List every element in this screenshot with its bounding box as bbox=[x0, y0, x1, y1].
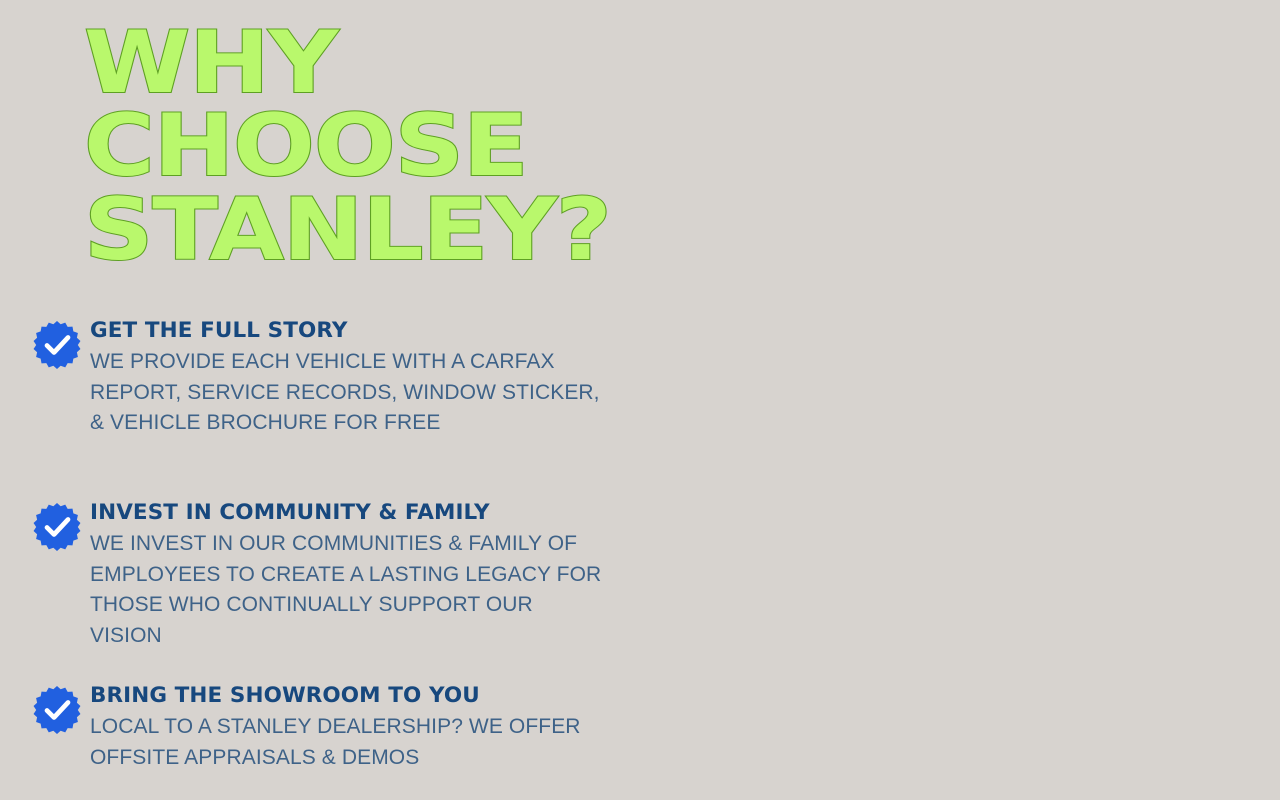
check-badge-icon bbox=[32, 320, 82, 370]
promo-poster: WHY CHOOSE STANLEY? GET THE FULL STORY W… bbox=[0, 0, 1280, 800]
check-badge-icon bbox=[32, 685, 82, 735]
check-badge-icon bbox=[32, 502, 82, 552]
feature-description: WE INVEST IN OUR COMMUNITIES & FAMILY OF… bbox=[90, 529, 602, 652]
feature-title: INVEST IN COMMUNITY & FAMILY bbox=[90, 500, 602, 527]
headline-line-2: CHOOSE bbox=[84, 105, 689, 188]
left-column: WHY CHOOSE STANLEY? GET THE FULL STORY W… bbox=[0, 0, 640, 800]
page-headline: WHY CHOOSE STANLEY? bbox=[84, 22, 689, 272]
feature-item-get-the-full-story: GET THE FULL STORY WE PROVIDE EACH VEHIC… bbox=[32, 318, 602, 439]
feature-title: GET THE FULL STORY bbox=[90, 318, 602, 345]
headline-line-1: WHY bbox=[84, 22, 689, 105]
right-column: NO HIDDEN DEALER FEES NO ADDENDUMS, ADD … bbox=[640, 0, 1280, 800]
feature-body: INVEST IN COMMUNITY & FAMILY WE INVEST I… bbox=[90, 500, 602, 652]
feature-item-invest-in-community-and-family: INVEST IN COMMUNITY & FAMILY WE INVEST I… bbox=[32, 500, 602, 652]
headline-line-3: STANLEY? bbox=[84, 189, 689, 272]
feature-description: WE PROVIDE EACH VEHICLE WITH A CARFAX RE… bbox=[90, 347, 602, 440]
feature-title: BRING THE SHOWROOM TO YOU bbox=[90, 683, 602, 710]
feature-body: GET THE FULL STORY WE PROVIDE EACH VEHIC… bbox=[90, 318, 602, 439]
feature-item-bring-the-showroom-to-you: BRING THE SHOWROOM TO YOU LOCAL TO A STA… bbox=[32, 683, 602, 773]
feature-description: LOCAL TO A STANLEY DEALERSHIP? WE OFFER … bbox=[90, 712, 602, 774]
feature-body: BRING THE SHOWROOM TO YOU LOCAL TO A STA… bbox=[90, 683, 602, 773]
